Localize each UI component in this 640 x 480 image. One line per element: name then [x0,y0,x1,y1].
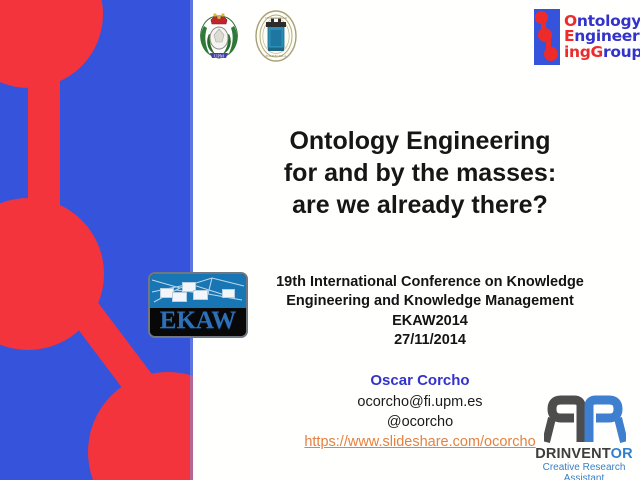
ekaw-logo: EKAW [148,272,248,338]
conference-date: 27/11/2014 [240,331,620,350]
title-line-2: for and by the masses: [210,157,630,189]
title-line-1: Ontology Engineering [210,125,630,157]
drinventor-wordmark: DRINVENTOR [530,446,638,462]
ekaw-network-graphic [150,274,246,308]
oeg-line-3: ingGroup [564,45,640,60]
oeg-node-mark-icon [534,9,560,65]
node-circle-top [0,0,103,88]
svg-text:UNIVERSIDAD: UNIVERSIDAD [265,16,287,20]
university-crest-icon: UNIVERSIDAD POLITECNICA [252,8,300,69]
conference-line-2: Engineering and Knowledge Management [240,292,620,311]
conference-details: 19th International Conference on Knowled… [240,273,620,350]
upm-crest-icon: UPM [196,8,242,69]
node-circle-bottom [88,372,193,480]
ontology-engineering-group-logo: Ontology Engineer ingGroup [534,6,632,68]
decorative-side-band [0,0,193,480]
ekaw-node-2 [172,292,187,302]
drinventor-logo: DRINVENTOR Creative Research Assistant [530,394,638,478]
institution-crests: UPM UNIVERSIDAD POLITECNICA [196,8,306,68]
drinventor-tagline: Creative Research Assistant [530,462,638,480]
ekaw-wordmark: EKAW [160,308,236,333]
svg-text:POLITECNICA: POLITECNICA [266,54,288,58]
slide-title: Ontology Engineering for and by the mass… [210,125,630,221]
band-edge-highlight [190,0,193,480]
drinventor-mark-icon [544,394,626,446]
svg-text:UPM: UPM [214,53,224,58]
ekaw-node-4 [193,290,208,300]
node-link-top [28,80,60,215]
conference-acronym: EKAW2014 [240,312,620,331]
ekaw-wordmark-area: EKAW [150,308,246,336]
oeg-wordmark: Ontology Engineer ingGroup [564,14,640,60]
presentation-slide: UPM UNIVERSIDAD POLITECNICA [0,0,640,480]
conference-line-1: 19th International Conference on Knowled… [240,273,620,292]
ekaw-node-5 [222,289,235,298]
title-line-3: are we already there? [210,189,630,221]
author-name: Oscar Corcho [240,371,600,392]
